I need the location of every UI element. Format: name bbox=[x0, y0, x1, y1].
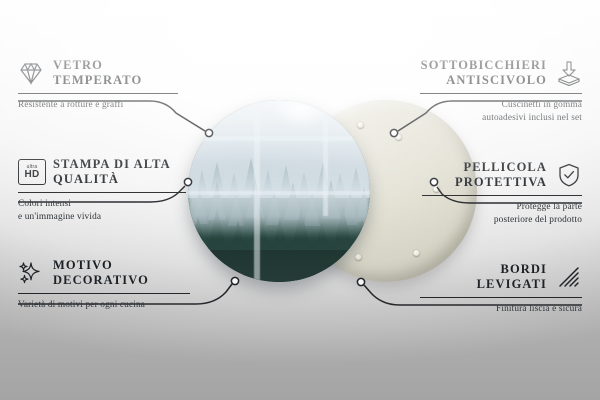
feature-stampa-alta-qualita: ultraHD STAMPA DI ALTA QUALITÀ Colori in… bbox=[18, 157, 186, 223]
title-line-2: LEVIGATI bbox=[477, 277, 547, 291]
title-line-1: BORDI bbox=[501, 262, 547, 276]
feature-pellicola-protettiva: PELLICOLA PROTETTIVA Protegge la parte p… bbox=[422, 160, 582, 226]
divider bbox=[18, 192, 186, 194]
connector-dot bbox=[390, 129, 397, 136]
diamond-icon bbox=[18, 60, 44, 86]
desc-line-1: Cuscinetti in gomma bbox=[502, 100, 582, 110]
feature-description: Colori intensi e un'immagine vivida bbox=[18, 198, 186, 223]
feature-description: Protegge la parte posteriore del prodott… bbox=[422, 201, 582, 226]
title-line-1: PELLICOLA bbox=[463, 160, 547, 174]
feature-title: VETRO TEMPERATO bbox=[53, 58, 142, 89]
desc-line-2: e un'immagine vivida bbox=[18, 212, 101, 222]
infographic-canvas: VETRO TEMPERATO Resistente a rotture e g… bbox=[0, 0, 600, 400]
desc-line-1: Colori intensi bbox=[18, 199, 71, 209]
title-line-2: ANTISCIVOLO bbox=[446, 73, 547, 87]
divider bbox=[420, 297, 582, 299]
desc-line-1: Protegge la parte bbox=[516, 202, 582, 212]
feature-description: Finitura liscia e sicura bbox=[420, 303, 582, 316]
title-line-2: PROTETTIVA bbox=[455, 175, 547, 189]
feature-title: STAMPA DI ALTA QUALITÀ bbox=[53, 157, 171, 188]
divider bbox=[422, 195, 582, 197]
title-line-2: QUALITÀ bbox=[53, 172, 119, 186]
sparkles-icon bbox=[18, 260, 44, 286]
connector-dot bbox=[205, 129, 212, 136]
arrow-down-pad-icon bbox=[556, 60, 582, 86]
feature-motivo-decorativo: MOTIVO DECORATIVO Varietà di motivi per … bbox=[18, 258, 190, 312]
feature-title: MOTIVO DECORATIVO bbox=[53, 258, 149, 289]
divider bbox=[18, 293, 190, 295]
feature-title: SOTTOBICCHIERI ANTISCIVOLO bbox=[421, 58, 547, 89]
diagonal-lines-icon bbox=[556, 264, 582, 290]
title-line-1: SOTTOBICCHIERI bbox=[421, 58, 547, 72]
feature-bordi-levigati: BORDI LEVIGATI Finitura liscia e sicura bbox=[420, 262, 582, 316]
divider bbox=[420, 93, 582, 95]
feature-title: PELLICOLA PROTETTIVA bbox=[455, 160, 547, 191]
title-line-1: VETRO bbox=[53, 58, 103, 72]
desc-line-2: posteriore del prodotto bbox=[494, 215, 582, 225]
desc-line-1: Resistente a rotture e graffi bbox=[18, 100, 123, 110]
feature-description: Cuscinetti in gomma autoadesivi inclusi … bbox=[420, 99, 582, 124]
shield-check-icon bbox=[556, 162, 582, 188]
title-line-2: TEMPERATO bbox=[53, 73, 142, 87]
feature-title: BORDI LEVIGATI bbox=[477, 262, 547, 293]
ultra-hd-badge-icon: ultraHD bbox=[18, 159, 44, 185]
feature-vetro-temperato: VETRO TEMPERATO Resistente a rotture e g… bbox=[18, 58, 178, 112]
title-line-2: DECORATIVO bbox=[53, 273, 149, 287]
feature-sottobicchieri-antiscivolo: SOTTOBICCHIERI ANTISCIVOLO Cuscinetti in… bbox=[420, 58, 582, 124]
desc-line-1: Varietà di motivi per ogni cucina bbox=[18, 300, 145, 310]
connector-dot bbox=[357, 278, 364, 285]
feature-description: Resistente a rotture e graffi bbox=[18, 99, 178, 112]
desc-line-2: autoadesivi inclusi nel set bbox=[482, 113, 582, 123]
feature-description: Varietà di motivi per ogni cucina bbox=[18, 299, 190, 312]
desc-line-1: Finitura liscia e sicura bbox=[496, 304, 582, 314]
divider bbox=[18, 93, 178, 95]
title-line-1: MOTIVO bbox=[53, 258, 113, 272]
title-line-1: STAMPA DI ALTA bbox=[53, 157, 171, 171]
connector-dot bbox=[231, 277, 238, 284]
